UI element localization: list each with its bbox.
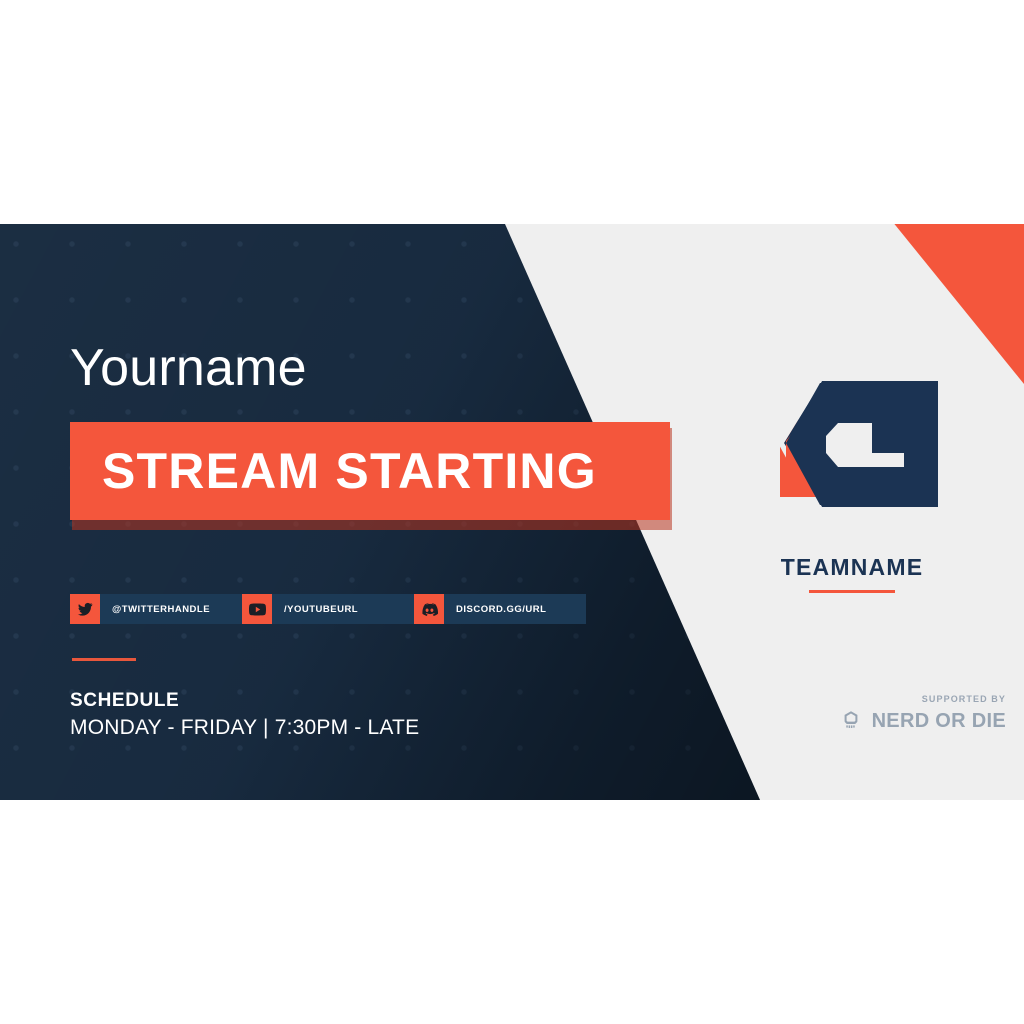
sponsor-name-text: NERD OR DIE bbox=[872, 710, 1006, 733]
twitter-handle-text: @TWITTERHANDLE bbox=[112, 604, 210, 615]
team-logo-icon bbox=[760, 379, 944, 509]
social-item-discord[interactable]: DISCORD.GG/URL bbox=[414, 594, 586, 624]
schedule-label: SCHEDULE bbox=[70, 690, 179, 712]
discord-url-text: DISCORD.GG/URL bbox=[456, 604, 546, 615]
team-name-underline bbox=[760, 590, 944, 593]
nerd-or-die-icon bbox=[839, 709, 863, 733]
team-name-text: TEAMNAME bbox=[760, 554, 944, 581]
schedule-value: MONDAY - FRIDAY | 7:30PM - LATE bbox=[70, 716, 419, 740]
stream-overlay-canvas: Yourname STREAM STARTING @TWITTERHANDLE bbox=[0, 224, 1024, 800]
discord-url-field: DISCORD.GG/URL bbox=[444, 594, 586, 624]
twitter-handle-field: @TWITTERHANDLE bbox=[100, 594, 242, 624]
headline-text: STREAM STARTING bbox=[70, 442, 597, 500]
social-item-youtube[interactable]: /YOUTUBEURL bbox=[242, 594, 414, 624]
discord-icon bbox=[414, 594, 444, 624]
schedule-divider bbox=[72, 658, 136, 661]
screenshot-stage: Yourname STREAM STARTING @TWITTERHANDLE bbox=[0, 0, 1024, 1024]
youtube-url-text: /YOUTUBEURL bbox=[284, 604, 358, 615]
username-text: Yourname bbox=[70, 342, 307, 394]
social-links-bar: @TWITTERHANDLE /YOUTUBEURL bbox=[70, 594, 584, 624]
headline-banner: STREAM STARTING bbox=[70, 422, 670, 526]
sponsor-block: SUPPORTED BY NERD OR DIE bbox=[714, 694, 1010, 733]
sponsor-row: NERD OR DIE bbox=[714, 709, 1010, 733]
left-content-block: Yourname STREAM STARTING @TWITTERHANDLE bbox=[70, 224, 690, 800]
sponsor-kicker-text: SUPPORTED BY bbox=[714, 694, 1010, 704]
youtube-url-field: /YOUTUBEURL bbox=[272, 594, 414, 624]
social-item-twitter[interactable]: @TWITTERHANDLE bbox=[70, 594, 242, 624]
right-content-block: TEAMNAME SUPPORTED BY NERD OR DIE bbox=[700, 224, 1024, 800]
headline-banner-bar: STREAM STARTING bbox=[70, 422, 670, 520]
youtube-icon bbox=[242, 594, 272, 624]
twitter-icon bbox=[70, 594, 100, 624]
